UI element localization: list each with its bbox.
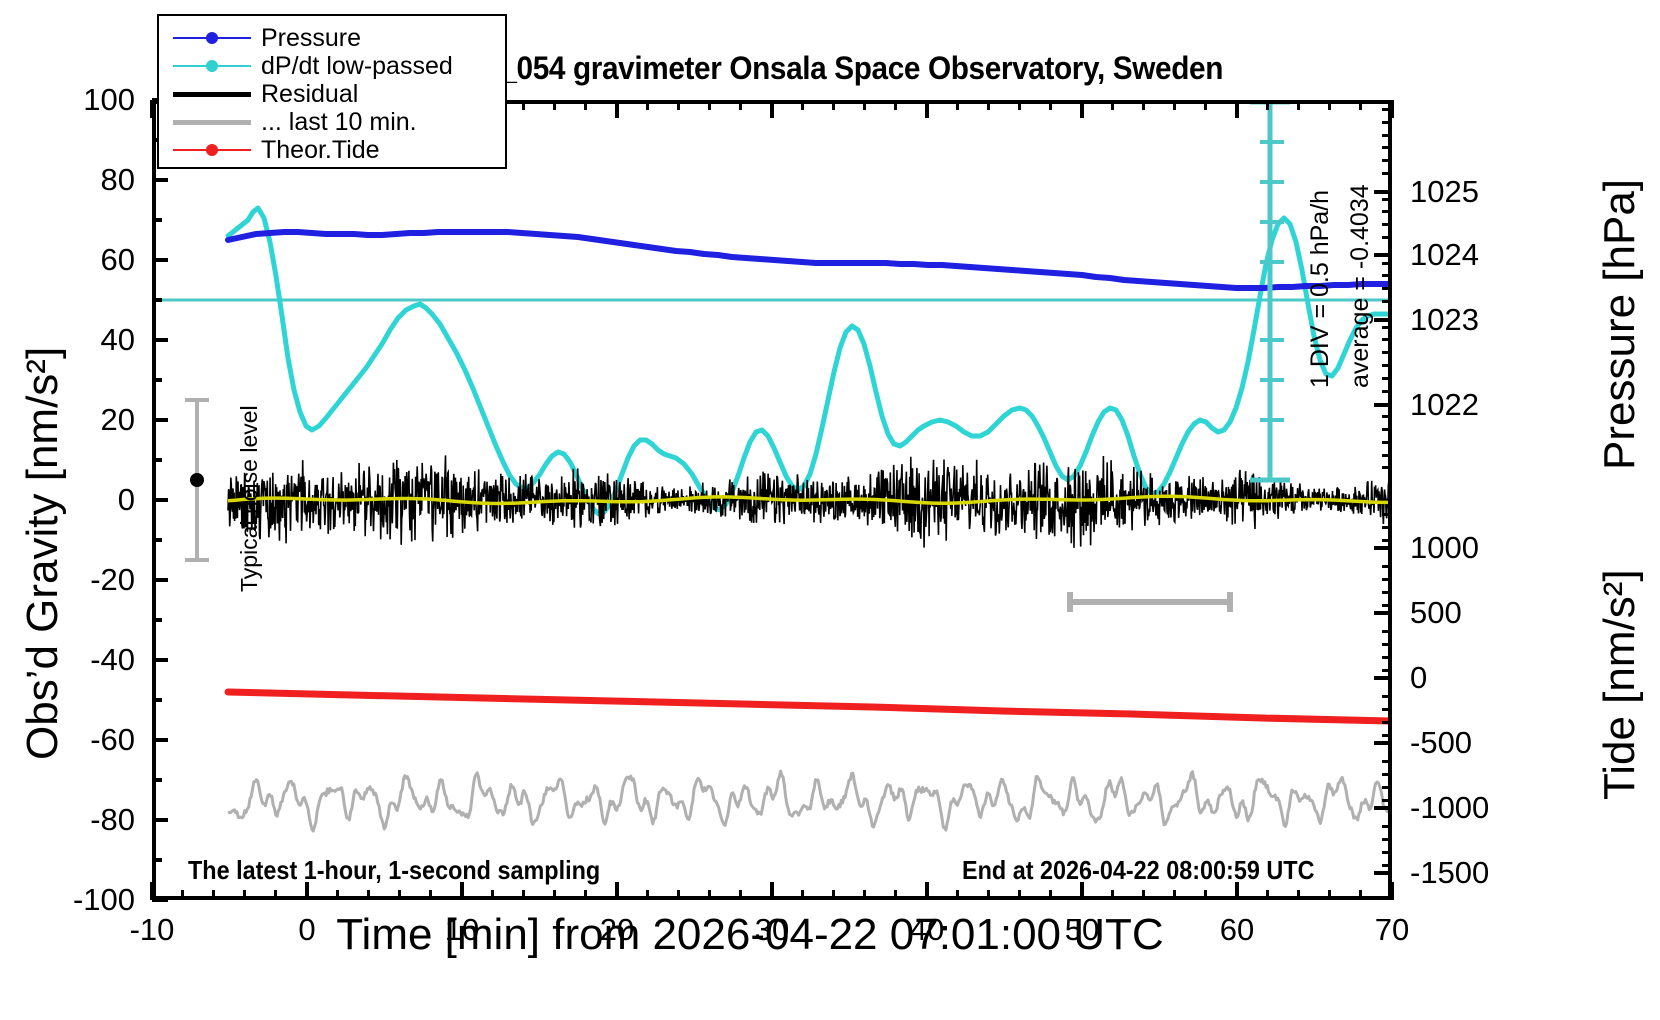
x-minor-tick-top: [646, 100, 649, 110]
y-major-tick-left: [152, 178, 168, 182]
x-minor-tick-top: [584, 100, 587, 110]
y-minor-tick-left: [152, 458, 162, 462]
y-minor-tick-pressure: [1382, 108, 1392, 111]
y-minor-tick-tide: [1382, 786, 1392, 789]
y-minor-tick-tide: [1382, 721, 1392, 724]
y-tick-label-tide-0: 1000: [1410, 532, 1550, 563]
y-minor-tick-pressure: [1382, 338, 1392, 341]
x-minor-tick: [1297, 890, 1300, 900]
x-minor-tick: [1142, 890, 1145, 900]
y-minor-tick-tide: [1382, 851, 1392, 854]
y-minor-tick-tide: [1382, 513, 1392, 516]
y-minor-tick-pressure: [1382, 454, 1392, 457]
legend-item-2[interactable]: Residual: [159, 80, 505, 108]
y-minor-tick-left: [152, 538, 162, 542]
y-minor-tick-pressure: [1382, 159, 1392, 162]
x-minor-tick-top: [1266, 100, 1269, 110]
y-minor-tick-pressure: [1382, 262, 1392, 265]
x-minor-tick: [584, 890, 587, 900]
y-major-tick-tide: [1374, 741, 1392, 745]
y-minor-tick-tide: [1382, 669, 1392, 672]
x-minor-tick: [708, 890, 711, 900]
x-minor-tick: [367, 890, 370, 900]
div-scale-label: 1 DIV = 0.5 hPa/h: [1306, 190, 1335, 388]
legend-item-4[interactable]: Theor.Tide: [159, 136, 505, 164]
legend-swatch-4: [173, 139, 251, 161]
y-major-tick-pressure: [1374, 253, 1392, 257]
y-major-tick-left: [152, 498, 168, 502]
y-major-tick-tide: [1374, 676, 1392, 680]
y-minor-tick-pressure: [1382, 326, 1392, 329]
y-major-tick-tide: [1374, 546, 1392, 550]
y-minor-tick-pressure: [1382, 390, 1392, 393]
y-minor-tick-tide: [1382, 734, 1392, 737]
y-major-tick-left: [152, 258, 168, 262]
y-tick-label-pressure-0: 1025: [1410, 176, 1540, 207]
y-axis-title-left: Obs’d Gravity [nm/s²]: [18, 347, 68, 760]
x-minor-tick-top: [739, 100, 742, 110]
y-minor-tick-pressure: [1382, 210, 1392, 213]
x-minor-tick-top: [522, 100, 525, 110]
y-tick-label-left-9: -80: [0, 804, 135, 835]
y-minor-tick-tide: [1382, 695, 1392, 698]
y-minor-tick-tide: [1382, 760, 1392, 763]
legend-box: PressuredP/dt low-passedResidual... last…: [157, 14, 507, 169]
x-minor-tick: [429, 890, 432, 900]
legend-label: ... last 10 min.: [261, 110, 417, 135]
y-major-tick-tide: [1374, 871, 1392, 875]
x-minor-tick-top: [894, 100, 897, 110]
x-minor-tick-top: [1328, 100, 1331, 110]
legend-item-3[interactable]: ... last 10 min.: [159, 108, 505, 136]
y-minor-tick-tide: [1382, 825, 1392, 828]
x-minor-tick-top: [677, 100, 680, 110]
x-minor-tick: [801, 890, 804, 900]
legend-label: dP/dt low-passed: [261, 54, 453, 79]
y-minor-tick-tide: [1382, 630, 1392, 633]
y-tick-label-tide-4: -1000: [1410, 792, 1550, 823]
x-minor-tick: [1328, 890, 1331, 900]
y-minor-tick-pressure: [1382, 441, 1392, 444]
x-major-tick-top: [1235, 100, 1239, 118]
x-minor-tick: [1018, 890, 1021, 900]
y-minor-tick-tide: [1382, 838, 1392, 841]
y-minor-tick-tide: [1382, 539, 1392, 542]
y-minor-tick-pressure: [1382, 134, 1392, 137]
x-minor-tick-top: [863, 100, 866, 110]
x-minor-tick-top: [1018, 100, 1021, 110]
y-minor-tick-tide: [1382, 656, 1392, 659]
x-minor-tick: [1266, 890, 1269, 900]
legend-swatch-2: [173, 83, 251, 105]
y-minor-tick-pressure: [1382, 198, 1392, 201]
legend-dot-icon: [206, 144, 218, 156]
x-axis-title: Time [min] from 2026-04-22 07:01:00 UTC: [0, 910, 1500, 960]
legend-line-icon: [173, 120, 251, 125]
legend-item-1[interactable]: dP/dt low-passed: [159, 52, 505, 80]
x-minor-tick: [336, 890, 339, 900]
y-major-tick-left: [152, 738, 168, 742]
x-major-tick: [925, 882, 929, 900]
y-minor-tick-left: [152, 858, 162, 862]
y-tick-label-tide-3: -500: [1410, 727, 1550, 758]
x-minor-tick-top: [553, 100, 556, 110]
footer-note-right: End at 2026-04-22 08:00:59 UTC: [962, 855, 1314, 886]
y-axis-title-tide: Tide [nm/s²]: [1595, 569, 1645, 800]
y-minor-tick-left: [152, 378, 162, 382]
typical-noise-level-label: Typical noise level: [236, 405, 263, 592]
x-minor-tick: [1204, 890, 1207, 900]
y-axis-title-pressure: Pressure [hPa]: [1595, 179, 1645, 470]
y-major-tick-left: [152, 418, 168, 422]
y-minor-tick-pressure: [1382, 223, 1392, 226]
y-minor-tick-pressure: [1382, 274, 1392, 277]
y-tick-label-tide-5: -1500: [1410, 857, 1550, 888]
y-minor-tick-pressure: [1382, 351, 1392, 354]
y-tick-label-left-2: 60: [0, 244, 135, 275]
legend-label: Pressure: [261, 26, 361, 51]
y-major-tick-tide: [1374, 806, 1392, 810]
x-minor-tick-top: [832, 100, 835, 110]
y-major-tick-pressure: [1374, 318, 1392, 322]
x-major-tick: [1390, 882, 1394, 900]
x-minor-tick: [212, 890, 215, 900]
x-minor-tick-top: [1359, 100, 1362, 110]
x-major-tick-top: [925, 100, 929, 118]
y-minor-tick-left: [152, 218, 162, 222]
y-minor-tick-tide: [1382, 708, 1392, 711]
y-minor-tick-tide: [1382, 643, 1392, 646]
y-major-tick-pressure: [1374, 403, 1392, 407]
x-minor-tick-top: [801, 100, 804, 110]
x-minor-tick: [677, 890, 680, 900]
x-minor-tick-top: [1297, 100, 1300, 110]
x-minor-tick: [987, 890, 990, 900]
legend-item-0[interactable]: Pressure: [159, 24, 505, 52]
y-minor-tick-left: [152, 698, 162, 702]
y-major-tick-left: [152, 578, 168, 582]
x-minor-tick: [894, 890, 897, 900]
x-minor-tick-top: [1111, 100, 1114, 110]
x-minor-tick: [646, 890, 649, 900]
y-minor-tick-tide: [1382, 864, 1392, 867]
x-minor-tick: [274, 890, 277, 900]
legend-dot-icon: [206, 32, 218, 44]
legend-swatch-1: [173, 55, 251, 77]
y-minor-tick-left: [152, 298, 162, 302]
y-minor-tick-pressure: [1382, 428, 1392, 431]
y-major-tick-left: [152, 898, 168, 902]
x-minor-tick-top: [1049, 100, 1052, 110]
x-minor-tick: [553, 890, 556, 900]
y-minor-tick-pressure: [1382, 121, 1392, 124]
y-major-tick-left: [152, 338, 168, 342]
x-minor-tick: [739, 890, 742, 900]
x-minor-tick-top: [987, 100, 990, 110]
x-minor-tick: [243, 890, 246, 900]
y-tick-label-left-1: 80: [0, 164, 135, 195]
y-tick-label-tide-2: 0: [1410, 662, 1550, 693]
x-major-tick-top: [1080, 100, 1084, 118]
y-minor-tick-pressure: [1382, 415, 1392, 418]
legend-label: Theor.Tide: [261, 138, 380, 163]
y-major-tick-tide: [1374, 611, 1392, 615]
y-minor-tick-pressure: [1382, 364, 1392, 367]
legend-swatch-0: [173, 27, 251, 49]
x-minor-tick: [1111, 890, 1114, 900]
x-major-tick-top: [150, 100, 154, 118]
y-minor-tick-tide: [1382, 799, 1392, 802]
x-major-tick-top: [615, 100, 619, 118]
y-minor-tick-left: [152, 618, 162, 622]
y-minor-tick-pressure: [1382, 236, 1392, 239]
y-minor-tick-tide: [1382, 526, 1392, 529]
x-minor-tick-top: [1142, 100, 1145, 110]
footer-note-left: The latest 1-hour, 1-second sampling: [188, 855, 600, 886]
y-tick-label-left-0: 100: [0, 84, 135, 115]
y-minor-tick-pressure: [1382, 146, 1392, 149]
x-major-tick: [150, 882, 154, 900]
y-minor-tick-pressure: [1382, 287, 1392, 290]
x-minor-tick: [522, 890, 525, 900]
x-minor-tick-top: [708, 100, 711, 110]
y-tick-label-pressure-3: 1022: [1410, 389, 1540, 420]
y-minor-tick-tide: [1382, 578, 1392, 581]
x-minor-tick-top: [956, 100, 959, 110]
x-minor-tick: [1049, 890, 1052, 900]
x-minor-tick-top: [1173, 100, 1176, 110]
y-tick-label-pressure-1: 1024: [1410, 239, 1540, 270]
y-minor-tick-left: [152, 778, 162, 782]
y-major-tick-pressure: [1374, 190, 1392, 194]
x-minor-tick: [491, 890, 494, 900]
y-major-tick-left: [152, 658, 168, 662]
x-major-tick: [770, 882, 774, 900]
x-major-tick-top: [770, 100, 774, 118]
legend-label: Residual: [261, 82, 358, 107]
x-minor-tick: [863, 890, 866, 900]
x-minor-tick: [832, 890, 835, 900]
y-minor-tick-pressure: [1382, 172, 1392, 175]
x-minor-tick: [181, 890, 184, 900]
y-minor-tick-pressure: [1382, 300, 1392, 303]
y-minor-tick-pressure: [1382, 466, 1392, 469]
y-minor-tick-tide: [1382, 565, 1392, 568]
y-tick-label-pressure-2: 1023: [1410, 304, 1540, 335]
x-minor-tick: [398, 890, 401, 900]
y-major-tick-left: [152, 818, 168, 822]
x-minor-tick: [956, 890, 959, 900]
x-minor-tick-top: [1204, 100, 1207, 110]
legend-swatch-3: [173, 111, 251, 133]
y-minor-tick-tide: [1382, 591, 1392, 594]
x-minor-tick: [1359, 890, 1362, 900]
y-minor-tick-pressure: [1382, 377, 1392, 380]
x-minor-tick: [1173, 890, 1176, 900]
average-label: average = -0.4034: [1346, 184, 1375, 388]
legend-line-icon: [173, 92, 251, 97]
x-major-tick: [615, 882, 619, 900]
y-minor-tick-tide: [1382, 604, 1392, 607]
legend-dot-icon: [206, 60, 218, 72]
y-minor-tick-tide: [1382, 773, 1392, 776]
y-tick-label-tide-1: 500: [1410, 597, 1550, 628]
